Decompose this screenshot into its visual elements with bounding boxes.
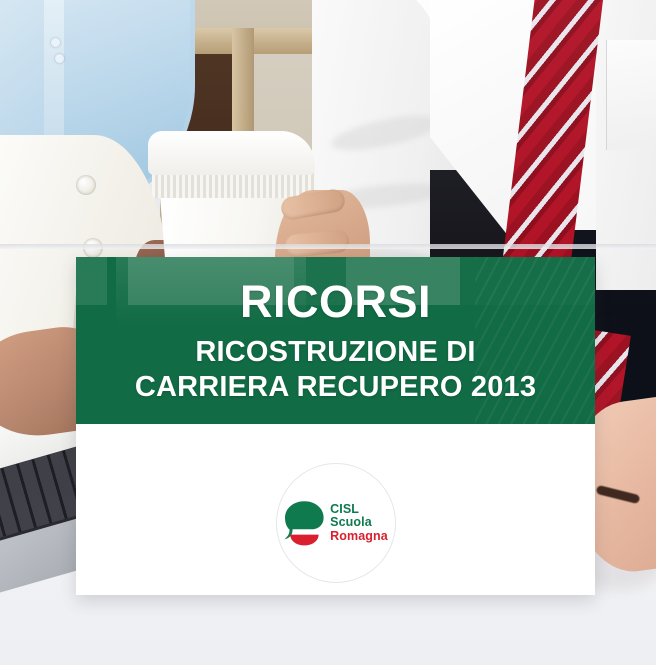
desk-edge (0, 244, 656, 249)
poster-title: RICORSI (76, 279, 595, 324)
shirt-button (51, 38, 60, 47)
content-card: RICORSI RICOSTRUZIONE DI CARRIERA RECUPE… (76, 257, 595, 595)
coffee-cup-lid (148, 131, 315, 175)
logo-line-romagna: Romagna (330, 530, 388, 543)
logo-badge: CISL Scuola Romagna (277, 464, 395, 582)
logo-wordmark: CISL Scuola Romagna (330, 503, 388, 543)
shirt-placket (44, 0, 64, 150)
logo-line-cisl: CISL (330, 503, 388, 516)
logo: CISL Scuola Romagna (283, 500, 388, 546)
trouser-button (76, 175, 96, 195)
shirt-button (55, 54, 64, 63)
cisl-logo-mark-icon (283, 500, 325, 546)
poster-subtitle-line2: CARRIERA RECUPERO 2013 (76, 370, 595, 405)
poster-subtitle: RICOSTRUZIONE DI CARRIERA RECUPERO 2013 (76, 335, 595, 406)
shirt-pocket (606, 40, 656, 150)
poster: RICORSI RICOSTRUZIONE DI CARRIERA RECUPE… (0, 0, 656, 665)
green-title-banner: RICORSI RICOSTRUZIONE DI CARRIERA RECUPE… (76, 257, 595, 424)
poster-subtitle-line1: RICOSTRUZIONE DI (195, 336, 475, 368)
logo-line-scuola: Scuola (330, 516, 388, 529)
